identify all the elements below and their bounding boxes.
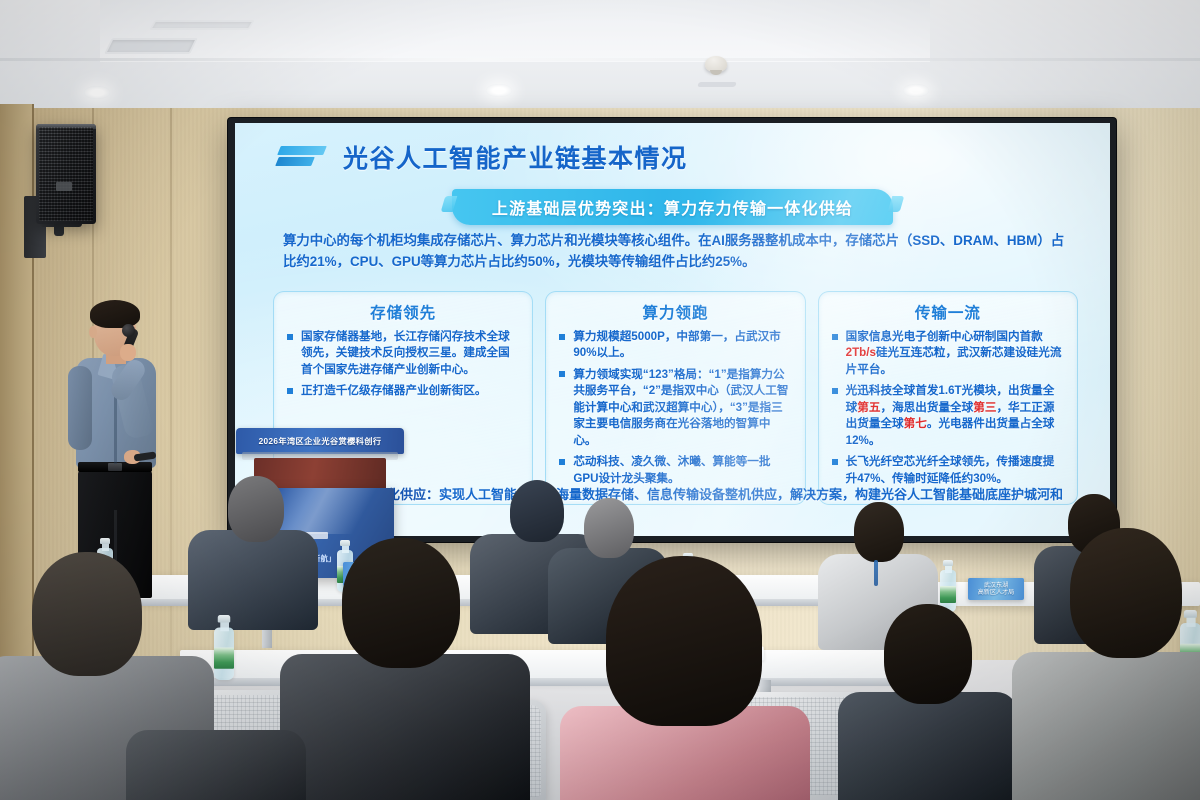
column-bullet-list: 算力规模超5000P，中部第一，占武汉市90%以上。 算力领域实现“123”格局… [558, 329, 792, 487]
list-item: 算力领域实现“123”格局：“1”是指算力公共服务平台，“2”是指双中心（武汉人… [558, 367, 792, 449]
downlight-icon [903, 84, 929, 97]
slide-banner-wrap: 上游基础层优势突出：算力存力传输一体化供给 [235, 189, 1110, 225]
ceiling-recess [100, 0, 930, 62]
attendee-hair [606, 556, 762, 726]
wall-speaker-icon [36, 124, 96, 224]
ceiling [0, 0, 1200, 120]
list-item: 国家存储器基地，长江存储闪存技术全球领先，关键技术反向授权三星。建成全国首个国家… [286, 329, 520, 378]
attendee-jacket [838, 692, 1018, 800]
attendee-jacket [126, 730, 306, 800]
attendee-head [584, 498, 634, 558]
attendee-dark-suit [280, 536, 530, 800]
slide-banner: 上游基础层优势突出：算力存力传输一体化供给 [452, 189, 893, 225]
attendee-long-hair [560, 556, 810, 800]
presenter-belt-buckle [108, 463, 122, 471]
attendee-jacket [280, 654, 530, 800]
podium-headline: 2026年湾区企业光谷赏樱科创行 [236, 428, 404, 454]
attendee-foreground-dark [126, 690, 306, 800]
ceiling-slot-vent [697, 82, 737, 87]
attendee-head [228, 476, 284, 542]
presenter-hand-mic [120, 344, 136, 361]
speaker-grille [39, 127, 93, 221]
speaker-badge [56, 182, 72, 191]
ceiling-vent-secondary-icon [149, 20, 255, 30]
attendee-head [1070, 528, 1182, 658]
column-title: 算力领跑 [558, 301, 792, 323]
attendee-head [32, 552, 142, 676]
presenter-left-arm [68, 366, 92, 450]
nameplate-line2: 高新区人才局 [978, 589, 1015, 596]
attendee-head [884, 604, 972, 704]
list-item: 算力规模超5000P，中部第一，占武汉市90%以上。 [558, 329, 792, 362]
column-card-compute: 算力领跑 算力规模超5000P，中部第一，占武汉市90%以上。 算力领域实现“1… [545, 291, 805, 505]
attendee-head [854, 502, 904, 562]
nameplate-line1: 武汉东湖 [984, 582, 1008, 589]
list-item: 正打造千亿级存储器产业创新街区。 [286, 383, 520, 399]
slide-intro-paragraph: 算力中心的每个机柜均集成存储芯片、算力芯片和光模块等核心组件。在AI服务器整机成… [283, 231, 1070, 273]
presenter-hair [90, 300, 140, 328]
column-title: 传输一流 [831, 301, 1065, 323]
list-item: 光迅科技全球首发1.6T光模块，出货量全球第五，海思出货量全球第三，华工正源出货… [831, 383, 1065, 449]
lanyard-icon [874, 560, 878, 586]
ceiling-vent-icon [104, 38, 198, 54]
presenter-ear [89, 326, 97, 338]
downlight-icon [486, 84, 512, 97]
conference-room-scene: 光谷人工智能产业链基本情况 上游基础层优势突出：算力存力传输一体化供给 算力中心… [0, 0, 1200, 800]
column-bullet-list: 国家信息光电子创新中心研制国内首款2Tb/s硅光互连芯粒，武汉新芯建设硅光流片平… [831, 329, 1065, 487]
downlight-icon [84, 86, 110, 99]
attendee-grey-coat [1012, 528, 1200, 800]
column-bullet-list: 国家存储器基地，长江存储闪存技术全球领先，关键技术反向授权三星。建成全国首个国家… [286, 329, 520, 400]
column-title: 存储领先 [286, 301, 520, 323]
attendee-dark-blue [838, 600, 1018, 800]
list-item: 长飞光纤空芯光纤全球领先，传播速度提升47%、传输时延降低约30%。 [831, 454, 1065, 487]
slide-header: 光谷人工智能产业链基本情况 [277, 139, 688, 175]
microphone-head-icon [122, 324, 135, 337]
slide-title: 光谷人工智能产业链基本情况 [343, 139, 688, 175]
attendee-jacket [1012, 652, 1200, 800]
attendee-head [342, 538, 460, 668]
column-card-transmission: 传输一流 国家信息光电子创新中心研制国内首款2Tb/s硅光互连芯粒，武汉新芯建设… [818, 291, 1078, 505]
ceiling-seam [0, 58, 1200, 61]
blue-arrow-logo-icon [277, 144, 329, 170]
list-item: 国家信息光电子创新中心研制国内首款2Tb/s硅光互连芯粒，武汉新芯建设硅光流片平… [831, 329, 1065, 378]
